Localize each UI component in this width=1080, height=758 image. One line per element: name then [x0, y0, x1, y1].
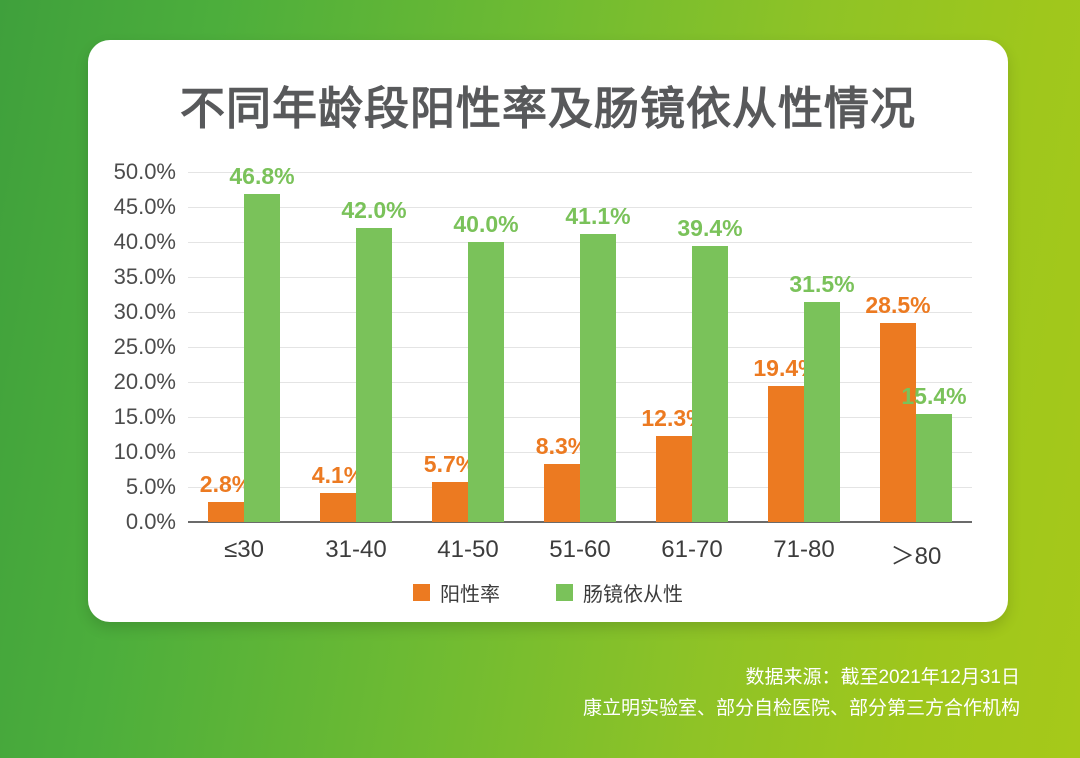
- bar-colonoscopy-compliance[interactable]: 40.0%: [468, 242, 504, 522]
- bar-colonoscopy-compliance[interactable]: 42.0%: [356, 228, 392, 522]
- bar-value-label: 46.8%: [229, 163, 294, 190]
- y-axis-tick-label: 45.0%: [114, 194, 176, 220]
- bar-value-label: 31.5%: [789, 271, 854, 298]
- bar-positive-rate[interactable]: 28.5%: [880, 323, 916, 523]
- bar-group: 2.8%46.8%≤30: [188, 172, 300, 522]
- bar-groups: 2.8%46.8%≤304.1%42.0%31-405.7%40.0%41-50…: [188, 172, 972, 522]
- y-axis-tick-label: 10.0%: [114, 439, 176, 465]
- x-axis-tick-label: ≤30: [224, 536, 264, 564]
- bar-group: 28.5%15.4%＞80: [860, 172, 972, 522]
- bar-pair: 8.3%41.1%: [544, 172, 616, 522]
- footer-line-1: 数据来源：截至2021年12月31日: [0, 662, 1020, 693]
- y-axis-tick-label: 35.0%: [114, 264, 176, 290]
- bar-value-label: 39.4%: [677, 215, 742, 242]
- chart-legend: 阳性率肠镜依从性: [88, 578, 1008, 607]
- bar-value-label: 40.0%: [453, 211, 518, 238]
- bar-colonoscopy-compliance[interactable]: 46.8%: [244, 194, 280, 522]
- bar-positive-rate[interactable]: 12.3%: [656, 436, 692, 522]
- bar-colonoscopy-compliance[interactable]: 31.5%: [804, 302, 840, 523]
- x-axis-tick-label: 71-80: [773, 536, 834, 564]
- bar-group: 19.4%31.5%71-80: [748, 172, 860, 522]
- x-axis-tick-label: 31-40: [325, 536, 386, 564]
- bar-group: 8.3%41.1%51-60: [524, 172, 636, 522]
- bar-pair: 4.1%42.0%: [320, 172, 392, 522]
- y-axis-tick-label: 15.0%: [114, 404, 176, 430]
- bar-pair: 19.4%31.5%: [768, 172, 840, 522]
- bar-colonoscopy-compliance[interactable]: 15.4%: [916, 414, 952, 522]
- bar-positive-rate[interactable]: 19.4%: [768, 386, 804, 522]
- y-axis-tick-label: 0.0%: [126, 509, 176, 535]
- bar-positive-rate[interactable]: 5.7%: [432, 482, 468, 522]
- legend-item[interactable]: 阳性率: [413, 578, 500, 607]
- bar-value-label: 41.1%: [565, 203, 630, 230]
- x-axis-tick-label: 41-50: [437, 536, 498, 564]
- bar-positive-rate[interactable]: 2.8%: [208, 502, 244, 522]
- y-axis-tick-label: 50.0%: [114, 159, 176, 185]
- legend-label: 肠镜依从性: [583, 578, 683, 607]
- bar-pair: 28.5%15.4%: [880, 172, 952, 522]
- y-axis-tick-label: 5.0%: [126, 474, 176, 500]
- bar-group: 12.3%39.4%61-70: [636, 172, 748, 522]
- bar-value-label: 42.0%: [341, 197, 406, 224]
- chart-card: 不同年龄段阳性率及肠镜依从性情况 50.0%45.0%40.0%35.0%30.…: [88, 40, 1008, 622]
- y-axis-tick-label: 25.0%: [114, 334, 176, 360]
- legend-swatch-icon: [556, 584, 573, 601]
- legend-item[interactable]: 肠镜依从性: [556, 578, 683, 607]
- legend-swatch-icon: [413, 584, 430, 601]
- y-axis-tick-label: 30.0%: [114, 299, 176, 325]
- bar-pair: 2.8%46.8%: [208, 172, 280, 522]
- x-axis-tick-label: 51-60: [549, 536, 610, 564]
- bar-pair: 12.3%39.4%: [656, 172, 728, 522]
- bar-colonoscopy-compliance[interactable]: 39.4%: [692, 246, 728, 522]
- bar-positive-rate[interactable]: 8.3%: [544, 464, 580, 522]
- y-axis-tick-label: 20.0%: [114, 369, 176, 395]
- poster-background: 不同年龄段阳性率及肠镜依从性情况 50.0%45.0%40.0%35.0%30.…: [0, 0, 1080, 758]
- legend-label: 阳性率: [440, 578, 500, 607]
- chart-plot-area: 50.0%45.0%40.0%35.0%30.0%25.0%20.0%15.0%…: [188, 172, 972, 522]
- bar-value-label: 15.4%: [901, 383, 966, 410]
- footer-line-2: 康立明实验室、部分自检医院、部分第三方合作机构: [0, 693, 1020, 724]
- data-source-footer: 数据来源：截至2021年12月31日 康立明实验室、部分自检医院、部分第三方合作…: [0, 662, 1020, 724]
- bar-positive-rate[interactable]: 4.1%: [320, 493, 356, 522]
- x-axis-tick-label: 61-70: [661, 536, 722, 564]
- page-title: 不同年龄段阳性率及肠镜依从性情况: [88, 72, 1008, 137]
- y-axis-tick-label: 40.0%: [114, 229, 176, 255]
- x-axis-tick-label: ＞80: [891, 536, 942, 571]
- bar-colonoscopy-compliance[interactable]: 41.1%: [580, 234, 616, 522]
- bar-group: 5.7%40.0%41-50: [412, 172, 524, 522]
- bar-pair: 5.7%40.0%: [432, 172, 504, 522]
- bar-value-label: 28.5%: [865, 292, 930, 319]
- bar-group: 4.1%42.0%31-40: [300, 172, 412, 522]
